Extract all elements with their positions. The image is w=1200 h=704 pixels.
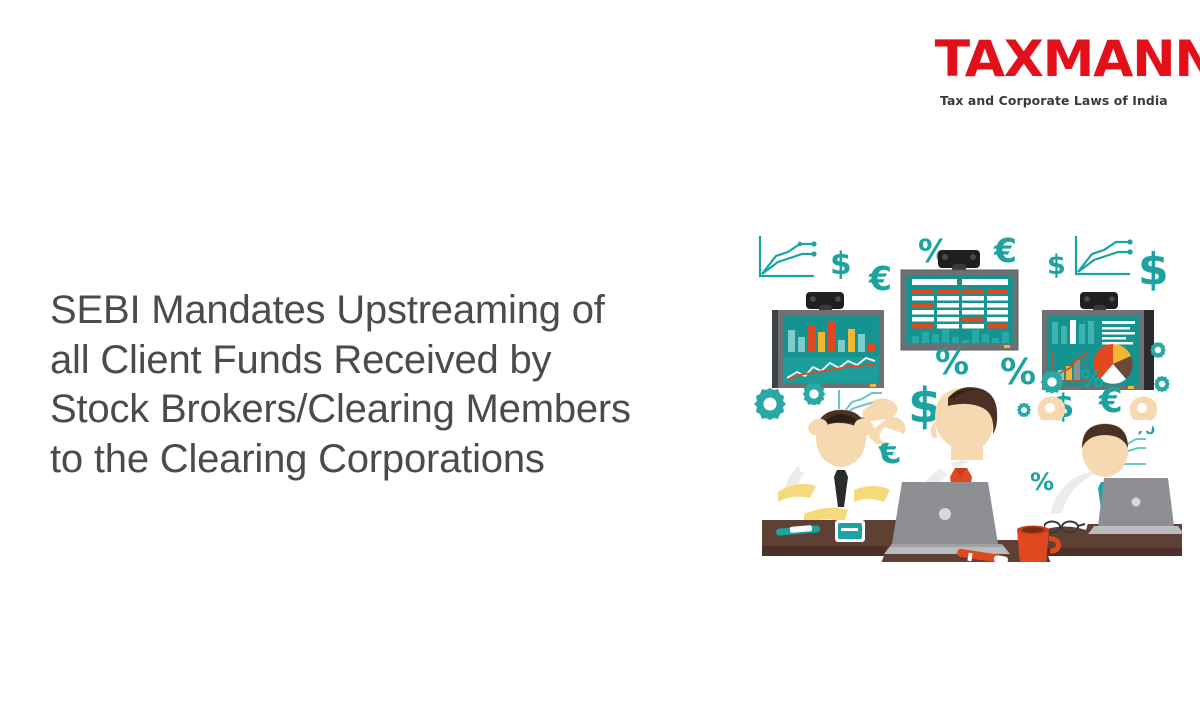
hero-illustration: $ € % € $ $	[742, 222, 1182, 562]
euro-symbol: €	[868, 259, 892, 298]
logo-wordmark: TAXMANN ®	[935, 34, 1200, 84]
gear-icon	[754, 388, 786, 420]
euro-symbol: €	[993, 231, 1017, 270]
line-graph-icon	[1076, 236, 1133, 274]
dollar-symbol: $	[1138, 244, 1169, 295]
taxmann-logo: TAXMANN ® Tax and Corporate Laws of Indi…	[940, 34, 1155, 108]
percent-symbol: %	[935, 343, 969, 383]
stock-traders-illustration: $ € % € $ $	[742, 222, 1182, 562]
desk-right	[1038, 423, 1182, 556]
gear-icon	[1017, 403, 1031, 417]
monitor-left	[772, 292, 884, 388]
euro-symbol: €	[1098, 381, 1123, 421]
page-title: SEBI Mandates Upstreaming of all Client …	[50, 286, 650, 484]
logo-wordmark-text: TAXMANN	[935, 30, 1200, 88]
line-graph-icon	[760, 236, 817, 276]
gear-icon	[1154, 376, 1170, 392]
ok-hand-icon	[1038, 396, 1066, 431]
percent-symbol: %	[1000, 352, 1036, 393]
dollar-symbol: $	[1047, 250, 1066, 281]
banner-root: TAXMANN ® Tax and Corporate Laws of Indi…	[0, 0, 1200, 704]
logo-tagline: Tax and Corporate Laws of India	[940, 93, 1155, 108]
dollar-symbol: $	[830, 246, 852, 282]
